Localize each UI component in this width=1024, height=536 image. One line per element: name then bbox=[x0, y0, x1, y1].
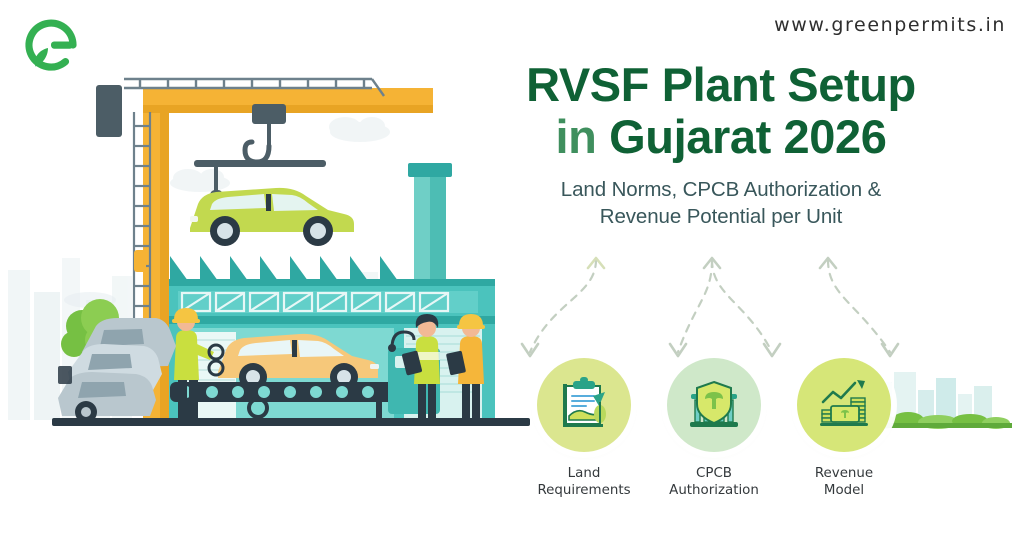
pillar-circle bbox=[537, 358, 631, 452]
headline-line-2-prefix: in bbox=[555, 110, 609, 163]
clipboard-land-plot-icon bbox=[555, 376, 613, 434]
pillar-label: CPCB Authorization bbox=[659, 465, 769, 499]
promo-banner: www.greenpermits.in bbox=[0, 0, 1024, 536]
pillar-label-line-2: Model bbox=[789, 482, 899, 499]
headline-line-2: in Gujarat 2026 bbox=[506, 112, 936, 162]
subtitle-line-1: Land Norms, CPCB Authorization & bbox=[506, 176, 936, 203]
vehicle-scrapping-facility-illustration bbox=[0, 0, 530, 440]
site-url[interactable]: www.greenpermits.in bbox=[774, 14, 1006, 36]
pillar-label-line-2: Authorization bbox=[659, 482, 769, 499]
pillars-row: Land Requirements bbox=[505, 358, 955, 518]
dashed-connector-arrows bbox=[500, 240, 960, 375]
pillar-label-line-1: Land bbox=[568, 466, 601, 481]
ground-line bbox=[52, 418, 530, 426]
headline-block: RVSF Plant Setup in Gujarat 2026 Land No… bbox=[506, 60, 936, 230]
pillar-label: Revenue Model bbox=[789, 465, 899, 499]
pillar-label-line-2: Requirements bbox=[529, 482, 639, 499]
headline-line-1: RVSF Plant Setup bbox=[506, 60, 936, 110]
pillar-revenue-model[interactable]: Revenue Model bbox=[789, 358, 899, 499]
subtitle-block: Land Norms, CPCB Authorization & Revenue… bbox=[506, 176, 936, 230]
pillar-circle bbox=[797, 358, 891, 452]
smokestack-icon bbox=[408, 163, 452, 292]
pillar-label-line-1: CPCB bbox=[696, 466, 732, 481]
pillar-cpcb-authorization[interactable]: CPCB Authorization bbox=[659, 358, 769, 499]
pillar-label: Land Requirements bbox=[529, 465, 639, 499]
lifted-car-icon bbox=[190, 188, 354, 246]
government-building-shield-icon bbox=[685, 376, 743, 434]
pillar-label-line-1: Revenue bbox=[815, 466, 873, 481]
pillar-land-requirements[interactable]: Land Requirements bbox=[529, 358, 639, 499]
subtitle-line-2: Revenue Potential per Unit bbox=[506, 203, 936, 230]
headline-line-2-strong: Gujarat 2026 bbox=[609, 110, 886, 163]
growth-chart-money-icon bbox=[815, 376, 873, 434]
pillar-circle bbox=[667, 358, 761, 452]
